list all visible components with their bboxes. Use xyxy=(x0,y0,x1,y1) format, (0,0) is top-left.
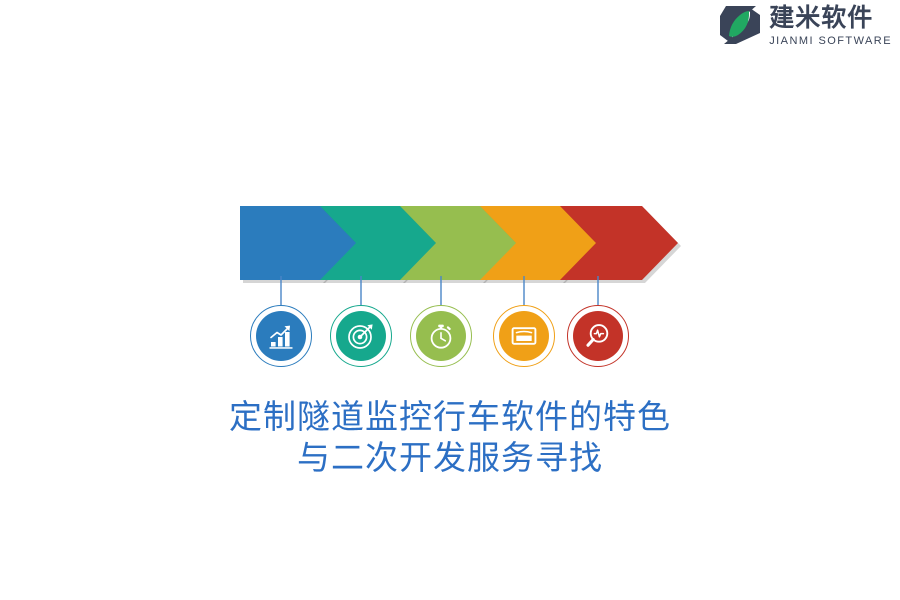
node-step-3[interactable] xyxy=(410,305,472,367)
node-disc-4 xyxy=(499,311,549,361)
node-disc-1 xyxy=(256,311,306,361)
page-title: 定制隧道监控行车软件的特色 与二次开发服务寻找 xyxy=(0,398,900,480)
stopwatch-timer-icon xyxy=(427,322,455,350)
node-disc-3 xyxy=(416,311,466,361)
presentation-board-icon xyxy=(510,322,538,350)
page-title-line-2: 与二次开发服务寻找 xyxy=(0,439,900,480)
node-step-4[interactable] xyxy=(493,305,555,367)
jianmi-leaf-logo-icon xyxy=(716,2,762,48)
node-disc-5 xyxy=(573,311,623,361)
chevron-process-infographic xyxy=(0,190,900,380)
target-bullseye-icon xyxy=(347,322,375,350)
page-title-line-1: 定制隧道监控行车软件的特色 xyxy=(0,398,900,439)
icon-node-row xyxy=(0,190,900,380)
bar-chart-growth-icon xyxy=(267,322,295,350)
node-step-2[interactable] xyxy=(330,305,392,367)
node-disc-2 xyxy=(336,311,386,361)
brand-name-cn: 建米软件 xyxy=(769,6,892,31)
brand-logo-area: 建米软件 JIANMI SOFTWARE xyxy=(690,0,900,52)
brand-text: 建米软件 JIANMI SOFTWARE xyxy=(769,6,892,47)
magnifier-pulse-icon xyxy=(584,322,612,350)
node-step-1[interactable] xyxy=(250,305,312,367)
node-step-5[interactable] xyxy=(567,305,629,367)
brand-name-en: JIANMI SOFTWARE xyxy=(769,36,892,47)
